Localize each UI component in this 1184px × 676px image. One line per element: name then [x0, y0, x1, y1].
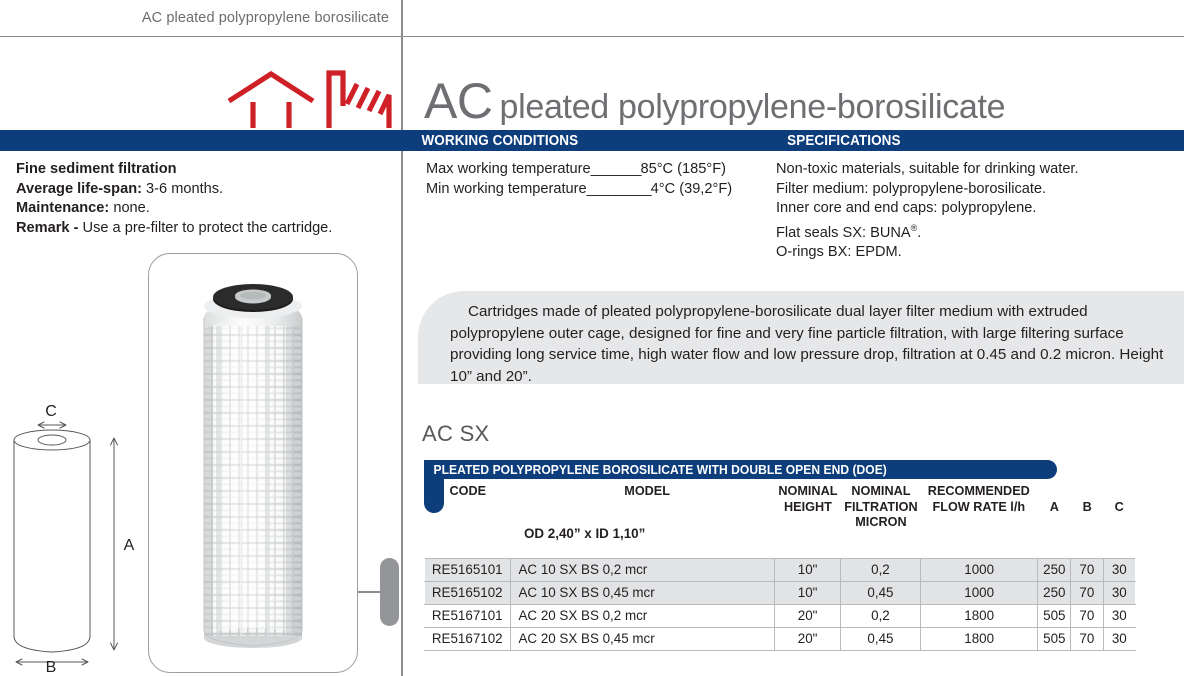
running-head: AC pleated polypropylene borosilicate	[0, 0, 401, 37]
th-nominal-height: NOMINAL HEIGHT	[776, 481, 839, 530]
cell-dim-c: 30	[1103, 581, 1135, 604]
cell-micron: 0,45	[841, 581, 921, 604]
max-temp-value: 85°C (185°F)	[640, 160, 725, 180]
specifications-list: Non-toxic materials, suitable for drinki…	[776, 160, 1176, 263]
cell-model: AC 20 SX BS 0,45 mcr	[510, 627, 775, 650]
th-nominal-height-l2: HEIGHT	[776, 499, 839, 515]
cell-height: 20"	[775, 604, 841, 627]
cell-dim-a: 250	[1038, 581, 1071, 604]
min-temp-value: 4°C (39,2°F)	[651, 180, 732, 200]
th-dim-a-label: A	[1039, 499, 1070, 515]
blue-bar-left-fill	[0, 130, 401, 151]
cell-micron: 0,45	[841, 627, 921, 650]
left-info-heading-text: Fine sediment filtration	[16, 161, 177, 177]
specification-line-text: Flat seals SX: BUNA	[776, 225, 911, 241]
house-icon	[229, 74, 313, 128]
th-dim-b: X B	[1071, 481, 1102, 530]
cell-model: AC 10 SX BS 0,2 mcr	[510, 558, 775, 581]
th-dim-c: X C	[1104, 481, 1135, 530]
th-dim-b-label: B	[1071, 499, 1102, 515]
cell-code: RE5167101	[425, 604, 511, 627]
th-nominal-filtration-l3: MICRON	[842, 514, 919, 530]
application-icons	[225, 68, 395, 130]
section-bar-specifications-label: SPECIFICATIONS	[776, 133, 901, 149]
specification-line-suffix: .	[917, 225, 921, 241]
specification-line: Flat seals SX: BUNA®.	[776, 219, 1176, 243]
running-head-text: AC pleated polypropylene borosilicate	[142, 10, 401, 26]
left-info-remark: Remark - Use a pre-filter to protect the…	[16, 219, 396, 239]
cell-dim-b: 70	[1071, 581, 1103, 604]
cell-height: 10"	[775, 558, 841, 581]
cell-dim-b: 70	[1071, 558, 1103, 581]
cell-micron: 0,2	[841, 604, 921, 627]
specification-line: Filter medium: polypropylene-borosilicat…	[776, 180, 1176, 200]
working-conditions-row: Max working temperature _______ 85°C (18…	[426, 160, 772, 180]
cell-dim-c: 30	[1103, 604, 1135, 627]
cell-model: AC 20 SX BS 0,2 mcr	[510, 604, 775, 627]
cell-flow: 1000	[920, 581, 1038, 604]
th-model: MODEL	[515, 481, 769, 530]
product-table-head: CODE MODEL NOMINAL HEIGHT NOMINAL FILTRA…	[425, 481, 1136, 558]
datasheet-page: AC pleated polypropylene borosilicate AC…	[0, 0, 1184, 676]
description-callout: Cartridges made of pleated polypropylene…	[418, 291, 1184, 384]
cell-micron: 0,2	[841, 558, 921, 581]
description-text: Cartridges made of pleated polypropylene…	[450, 301, 1166, 387]
table-banner-label: PLEATED POLYPROPYLENE BOROSILICATE WITH …	[424, 463, 887, 477]
photo-side-tab	[380, 558, 399, 626]
cell-height: 10"	[775, 581, 841, 604]
table-header-spacer	[439, 530, 1122, 559]
cell-dim-a: 505	[1038, 604, 1071, 627]
product-table: CODE MODEL NOMINAL HEIGHT NOMINAL FILTRA…	[424, 481, 1136, 651]
dimension-diagram: C A B	[4, 404, 134, 672]
left-info-lifespan-label: Average life-span:	[16, 181, 142, 197]
th-nominal-filtration-l1: NOMINAL	[842, 483, 919, 499]
cell-model: AC 10 SX BS 0,45 mcr	[510, 581, 775, 604]
left-info-heading: Fine sediment filtration	[16, 160, 396, 180]
th-flow-rate: RECOMMENDED FLOW RATE l/h	[923, 481, 1036, 530]
left-info-maintenance-value: none.	[113, 200, 150, 216]
section-bar-specifications: SPECIFICATIONS	[776, 130, 1184, 151]
left-info-block: Fine sediment filtration Average life-sp…	[16, 160, 396, 238]
icons-svg	[225, 68, 395, 130]
left-info-maintenance: Maintenance: none.	[16, 199, 396, 219]
left-info-remark-label: Remark -	[16, 220, 78, 236]
cell-code: RE5165101	[425, 558, 511, 581]
cell-flow: 1800	[920, 627, 1038, 650]
table-row[interactable]: RE5167101 AC 20 SX BS 0,2 mcr 20" 0,2 18…	[425, 604, 1136, 627]
th-flow-rate-l2: FLOW RATE l/h	[923, 499, 1036, 515]
cell-dim-b: 70	[1071, 627, 1103, 650]
working-conditions-list: Max working temperature _______ 85°C (18…	[426, 160, 772, 199]
cell-height: 20"	[775, 627, 841, 650]
max-temp-leader: _______	[591, 160, 641, 180]
table-row[interactable]: RE5165102 AC 10 SX BS 0,45 mcr 10" 0,45 …	[425, 581, 1136, 604]
th-nominal-filtration-l2: FILTRATION	[842, 499, 919, 515]
th-dim-a: X A	[1039, 481, 1070, 530]
header-rule	[401, 36, 1184, 38]
factory-icon	[329, 73, 389, 128]
cell-dim-a: 505	[1038, 627, 1071, 650]
left-info-maintenance-label: Maintenance:	[16, 200, 109, 216]
max-temp-label: Max working temperature	[426, 160, 591, 180]
section-bar-working-conditions-label: WORKING CONDITIONS	[401, 133, 578, 149]
th-nominal-height-l1: NOMINAL	[776, 483, 839, 499]
dim-label-c: C	[45, 404, 57, 420]
table-header-spacer-row	[425, 530, 1136, 559]
cell-dim-b: 70	[1071, 604, 1103, 627]
title-description: pleated polypropylene-borosilicate	[499, 88, 1005, 127]
specification-line: Inner core and end caps: polypropylene.	[776, 199, 1176, 219]
specification-line: O-rings BX: EPDM.	[776, 243, 1176, 263]
table-row[interactable]: RE5165101 AC 10 SX BS 0,2 mcr 10" 0,2 10…	[425, 558, 1136, 581]
table-section-heading: AC SX	[422, 421, 490, 447]
th-flow-rate-l1: RECOMMENDED	[923, 483, 1036, 499]
product-photo-frame	[148, 253, 358, 673]
th-nominal-filtration: NOMINAL FILTRATION MICRON	[842, 481, 919, 530]
cell-flow: 1000	[920, 558, 1038, 581]
section-bar-working-conditions: WORKING CONDITIONS	[401, 130, 776, 151]
table-banner: PLEATED POLYPROPYLENE BOROSILICATE WITH …	[424, 460, 1057, 479]
specification-line: Non-toxic materials, suitable for drinki…	[776, 160, 1176, 180]
th-dim-c-label: C	[1104, 499, 1135, 515]
cell-code: RE5165102	[425, 581, 511, 604]
title-code: AC	[424, 72, 492, 130]
cell-dim-a: 250	[1038, 558, 1071, 581]
cell-code: RE5167102	[425, 627, 511, 650]
cell-dim-c: 30	[1103, 627, 1135, 650]
dim-label-b: B	[46, 659, 57, 672]
left-info-remark-value: Use a pre-filter to protect the cartridg…	[83, 220, 333, 236]
working-conditions-row: Min working temperature _________ 4°C (3…	[426, 180, 772, 200]
dim-label-a: A	[124, 537, 134, 554]
cell-flow: 1800	[920, 604, 1038, 627]
table-header-row: CODE MODEL NOMINAL HEIGHT NOMINAL FILTRA…	[425, 481, 1136, 530]
left-info-lifespan-value: 3-6 months.	[146, 181, 223, 197]
filter-cartridge-photo	[194, 270, 312, 656]
th-code: CODE	[426, 481, 508, 530]
table-row[interactable]: RE5167102 AC 20 SX BS 0,45 mcr 20" 0,45 …	[425, 627, 1136, 650]
min-temp-label: Min working temperature	[426, 180, 587, 200]
column-divider	[401, 0, 403, 676]
min-temp-leader: _________	[587, 180, 651, 200]
product-table-body: RE5165101 AC 10 SX BS 0,2 mcr 10" 0,2 10…	[425, 558, 1136, 650]
page-title: AC pleated polypropylene-borosilicate	[424, 72, 1005, 132]
cell-dim-c: 30	[1103, 558, 1135, 581]
left-info-lifespan: Average life-span: 3-6 months.	[16, 180, 396, 200]
